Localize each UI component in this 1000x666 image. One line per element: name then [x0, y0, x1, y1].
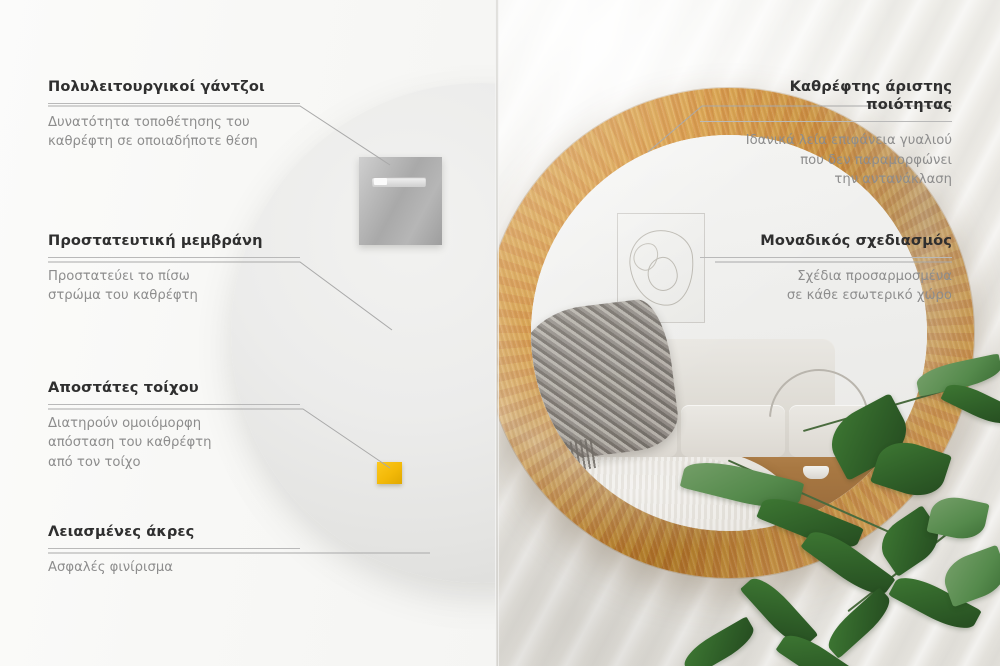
- callout-edges-line-1: Ασφαλές φινίρισμα: [48, 558, 300, 577]
- callout-glass-quality-line-2: που δεν παραμορφώνει: [700, 151, 952, 170]
- callout-unique-design-title: Μοναδικός σχεδιασμός: [700, 232, 952, 250]
- infographic-canvas: Πολυλειτουργικοί γάντζοι Δυνατότητα τοπο…: [0, 0, 1000, 666]
- callout-rule: [48, 404, 300, 405]
- callout-rule: [48, 257, 300, 258]
- callout-rule: [700, 121, 952, 122]
- callout-membrane-line-1: Προστατεύει το πίσω: [48, 267, 300, 286]
- callout-edges: Λειασμένες άκρες Ασφαλές φινίρισμα: [48, 523, 300, 577]
- callout-glass-quality-line-1: Ιδανικά λεία επιφάνεια γυαλιού: [700, 131, 952, 150]
- callout-rule: [700, 257, 952, 258]
- callout-rule: [48, 548, 300, 549]
- callout-spacers-line-2: απόσταση του καθρέφτη: [48, 433, 300, 452]
- callout-unique-design-line-1: Σχέδια προσαρμοσμένα: [700, 267, 952, 286]
- wall-spacer: [377, 462, 402, 484]
- callout-glass-quality-line-3: την αντανάκλαση: [700, 170, 952, 189]
- callout-rule: [48, 103, 300, 104]
- leaf: [679, 616, 760, 666]
- callout-membrane-title: Προστατευτική μεμβράνη: [48, 232, 300, 250]
- leaf: [821, 587, 896, 659]
- callout-hooks-line-2: καθρέφτη σε οποιαδήποτε θέση: [48, 132, 300, 151]
- callout-membrane: Προστατευτική μεμβράνη Προστατεύει το πί…: [48, 232, 300, 306]
- callout-glass-quality: Καθρέφτης άριστης ποιότητας Ιδανικά λεία…: [700, 78, 952, 189]
- callout-glass-quality-title: Καθρέφτης άριστης ποιότητας: [700, 78, 952, 114]
- callout-hooks-line-1: Δυνατότητα τοποθέτησης του: [48, 113, 300, 132]
- hook-slot-icon: [372, 177, 426, 187]
- callout-spacers: Αποστάτες τοίχου Διατηρούν ομοιόμορφη απ…: [48, 379, 300, 472]
- callout-spacers-line-3: από τον τοίχο: [48, 453, 300, 472]
- callout-edges-title: Λειασμένες άκρες: [48, 523, 300, 541]
- callout-spacers-title: Αποστάτες τοίχου: [48, 379, 300, 397]
- callout-membrane-line-2: στρώμα του καθρέφτη: [48, 286, 300, 305]
- panel-divider: [495, 0, 499, 666]
- hook-plate: [359, 157, 442, 245]
- foreground-foliage: [680, 348, 1000, 666]
- callout-unique-design: Μοναδικός σχεδιασμός Σχέδια προσαρμοσμέν…: [700, 232, 952, 306]
- callout-unique-design-line-2: σε κάθε εσωτερικό χώρο: [700, 286, 952, 305]
- callout-hooks-title: Πολυλειτουργικοί γάντζοι: [48, 78, 300, 96]
- callout-spacers-line-1: Διατηρούν ομοιόμορφη: [48, 414, 300, 433]
- callout-hooks: Πολυλειτουργικοί γάντζοι Δυνατότητα τοπο…: [48, 78, 300, 152]
